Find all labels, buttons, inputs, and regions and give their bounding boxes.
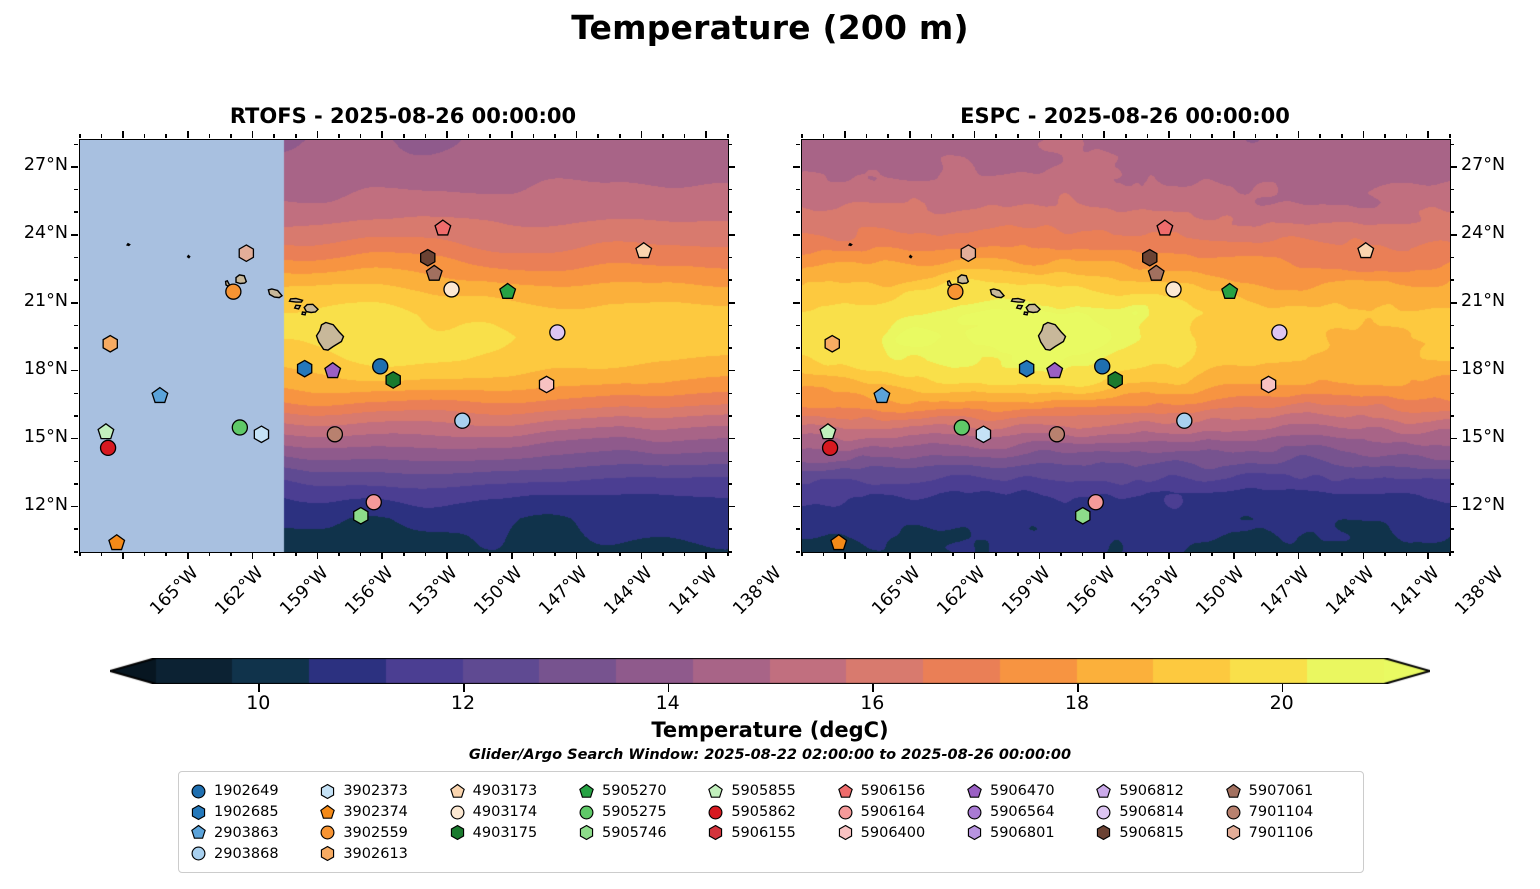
legend-item-4903175[interactable]: 4903175 [448,823,577,844]
observation-marker-5905862[interactable] [101,440,116,455]
colorbar-gradient [110,658,1430,684]
overlay-rtofs [80,140,728,552]
colorbar-tick-label: 10 [246,692,270,714]
lon-tick-label: 147°W [535,563,591,619]
legend-item-5906156[interactable]: 5906156 [836,781,965,802]
lon-tick [1233,552,1235,559]
legend-item-3902613[interactable]: 3902613 [318,843,447,864]
lon-tick-top [597,134,599,138]
lat-tick-right [1450,506,1457,508]
lon-tick-top [974,131,976,138]
lon-tick [1211,552,1213,556]
lon-tick-top [705,131,707,138]
lon-tick [230,552,232,556]
lon-tick-top [144,134,146,138]
lat-tick-right [728,551,732,553]
lon-tick-top [425,134,427,138]
lat-tick-label: 24°N [1461,223,1505,243]
lat-tick-left [71,370,78,372]
colorbar-tick [1077,684,1079,692]
landmass-oahu [268,289,282,298]
legend-item-3902559[interactable]: 3902559 [318,823,447,844]
legend-item-label: 5906156 [861,783,926,799]
legend-item-label: 5906400 [861,825,926,841]
lat-tick-left [796,211,800,213]
lon-tick-top [887,134,889,138]
legend-item-5905275[interactable]: 5905275 [577,802,706,823]
lon-tick-label: 156°W [341,563,397,619]
lat-tick-left [74,415,78,417]
lon-tick-top [209,134,211,138]
legend-item-label: 5905746 [602,825,667,841]
lat-tick-left [796,325,800,327]
lon-tick [360,552,362,556]
observation-marker-5906164[interactable] [1088,495,1103,510]
lon-tick-top [187,131,189,138]
lat-tick-left [74,257,78,259]
lat-tick-label: 21°N [0,291,68,311]
observation-marker-5906400[interactable] [539,376,553,392]
landmass-necker [849,244,852,246]
legend-item-3902374[interactable]: 3902374 [318,802,447,823]
lon-tick [844,552,846,559]
lon-tick [533,552,535,556]
lon-tick-top [252,131,254,138]
lat-tick-left [74,528,78,530]
legend-item-5906164[interactable]: 5906164 [836,802,965,823]
legend-item-4903173[interactable]: 4903173 [448,781,577,802]
legend-item-label: 5906812 [1119,783,1184,799]
legend-marker-circle-icon [1224,803,1243,822]
landmass-maui [304,304,318,312]
lat-tick-right [728,166,735,168]
observation-marker-4903173[interactable] [636,243,652,258]
lon-tick-top [554,134,556,138]
panel-title-espc: ESPC - 2025-08-26 00:00:00 [801,104,1449,128]
legend-item-1902649[interactable]: 1902649 [189,781,318,802]
observation-marker-1902649[interactable] [1095,359,1110,374]
landmass-kauai [236,275,246,284]
lat-tick-label: 12°N [0,495,68,515]
lon-tick [1363,552,1365,559]
lat-tick-right [728,483,732,485]
observation-marker-5906815[interactable] [1143,250,1157,266]
legend-marker-pentagon-icon [706,782,725,801]
lat-tick-right [728,438,735,440]
lon-tick-label: 165°W [147,563,203,619]
lon-tick-top [1060,134,1062,138]
lon-tick-top [641,131,643,138]
observation-marker-3902373[interactable] [254,426,268,442]
legend-item-label: 5906801 [990,825,1055,841]
lon-tick-label: 159°W [998,563,1054,619]
landmass-oahu [990,289,1004,298]
observation-marker-5905270[interactable] [500,283,516,298]
lon-tick [1190,552,1192,556]
lat-tick-left [796,144,800,146]
lon-tick [381,552,383,559]
lon-tick-top [79,134,81,138]
observation-marker-4903174[interactable] [444,282,459,297]
lon-tick-label: 153°W [406,563,462,619]
lon-tick-label: 147°W [1257,563,1313,619]
legend-item-2903863[interactable]: 2903863 [189,823,318,844]
legend-marker-hexagon-icon [836,823,855,842]
lon-tick [1449,552,1451,556]
landmass-kaho [1024,312,1028,315]
legend-item-label: 5906564 [990,804,1055,820]
lon-tick [727,552,729,556]
lon-tick [1082,552,1084,556]
lat-tick-left [71,506,78,508]
lat-tick-label: 27°N [0,155,68,175]
legend-marker-hexagon-icon [318,844,337,863]
lat-tick-left [74,483,78,485]
lat-tick-left [796,461,800,463]
observation-marker-5905275[interactable] [232,420,247,435]
lon-tick-top [684,134,686,138]
lon-tick [801,552,803,556]
lat-tick-label: 24°N [0,223,68,243]
observation-marker-5907061[interactable] [1148,265,1164,280]
lat-tick-right [728,325,732,327]
lon-tick-top [1039,131,1041,138]
legend-item-label: 7901104 [1249,804,1314,820]
lat-tick-left [796,347,800,349]
observation-marker-1902649[interactable] [373,359,388,374]
lat-tick-right [1450,347,1454,349]
observation-marker-4903175[interactable] [1108,372,1122,388]
legend-item-7901104[interactable]: 7901104 [1224,802,1353,823]
observation-marker-5905270[interactable] [1222,283,1238,298]
observation-marker-3902613[interactable] [825,336,839,352]
colorbar-tick [1282,684,1284,692]
observation-marker-3902374[interactable] [109,535,125,550]
lon-tick-label: 156°W [1063,563,1119,619]
lon-tick [974,552,976,559]
lat-tick-label: 15°N [0,427,68,447]
legend-item-label: 4903174 [473,804,538,820]
observation-marker-2903863[interactable] [152,388,168,403]
lat-tick-right [728,257,732,259]
legend-item-5906470[interactable]: 5906470 [965,781,1094,802]
legend-item-label: 3902559 [343,825,408,841]
legend-marker-hexagon-icon [1094,823,1113,842]
observation-marker-7901106[interactable] [961,245,975,261]
lon-tick-top [1363,131,1365,138]
colorbar-tick [258,684,260,692]
observation-marker-5905855[interactable] [820,424,836,439]
lon-tick [1298,552,1300,559]
lat-tick-left [74,461,78,463]
legend-item-5906801[interactable]: 5906801 [965,823,1094,844]
lon-tick-top [1341,134,1343,138]
landmass-big [317,323,344,351]
legend-item-label: 7901106 [1249,825,1314,841]
lat-tick-right [1450,415,1454,417]
landmass-lanai [1017,305,1023,309]
lat-tick-right [728,279,732,281]
lon-tick [1017,552,1019,556]
legend-item-4903174[interactable]: 4903174 [448,802,577,823]
observation-marker-3902559[interactable] [948,284,963,299]
lon-tick-top [952,134,954,138]
lat-tick-left [796,257,800,259]
observation-marker-5906156[interactable] [1157,220,1173,235]
legend-item-label: 3902374 [343,804,408,820]
legend-marker-hexagon-icon [965,823,984,842]
legend-item-label: 5905270 [602,783,667,799]
lat-tick-right [728,347,732,349]
observation-marker-5905746[interactable] [354,508,368,524]
lon-tick-top [995,134,997,138]
observation-marker-3902373[interactable] [976,426,990,442]
lat-tick-right [1450,189,1454,191]
lon-tick [641,552,643,559]
lon-tick [165,552,167,556]
lat-tick-left [793,166,800,168]
lon-tick [1319,552,1321,556]
lon-tick [1406,552,1408,556]
map-panel-espc[interactable] [801,139,1451,553]
lon-tick-top [1168,131,1170,138]
lon-tick [425,552,427,556]
observation-marker-1902685[interactable] [1020,360,1034,376]
observation-marker-5905746[interactable] [1076,508,1090,524]
legend-item-5906155[interactable]: 5906155 [706,823,835,844]
lon-tick-top [489,134,491,138]
lat-tick-left [74,347,78,349]
lon-tick-top [101,134,103,138]
lon-tick-top [360,134,362,138]
lon-tick-top [381,131,383,138]
legend-marker-circle-icon [706,803,725,822]
observation-marker-2903863[interactable] [874,388,890,403]
landmass-kauai [958,275,968,284]
lat-tick-right [728,144,732,146]
lon-tick-top [801,134,803,138]
lat-tick-left [793,302,800,304]
lat-tick-left [71,438,78,440]
observation-marker-5905275[interactable] [954,420,969,435]
legend-item-5906812[interactable]: 5906812 [1094,781,1223,802]
lon-tick-top [909,131,911,138]
lat-tick-right [728,528,732,530]
lon-tick-top [468,134,470,138]
lon-tick-top [317,131,319,138]
lon-tick-top [931,134,933,138]
legend-marker-pentagon-icon [448,782,467,801]
observation-marker-5906815[interactable] [421,250,435,266]
colorbar-tick-label: 20 [1270,692,1294,714]
map-panel-rtofs[interactable] [79,139,729,553]
lat-tick-right [1450,166,1457,168]
observation-marker-5906164[interactable] [366,495,381,510]
search-window-caption: Glider/Argo Search Window: 2025-08-22 02… [0,747,1540,763]
lon-tick-top [230,134,232,138]
observation-marker-5906470[interactable] [1047,363,1063,378]
observation-marker-5906156[interactable] [435,220,451,235]
lon-tick-label: 150°W [471,563,527,619]
lon-tick [684,552,686,556]
lon-tick-top [823,134,825,138]
lon-tick [662,552,664,556]
lon-tick-top [165,134,167,138]
observation-marker-5906400[interactable] [1261,376,1275,392]
lon-tick [1255,552,1257,556]
lon-tick-top [1319,134,1321,138]
lon-tick-top [1017,134,1019,138]
legend-item-label: 2903863 [214,825,279,841]
lon-tick [1125,552,1127,556]
landmass-big [1039,323,1066,351]
legend-item-5906814[interactable]: 5906814 [1094,802,1223,823]
lon-tick-label: 141°W [665,563,721,619]
lat-tick-label: 27°N [1461,155,1505,175]
lon-tick [705,552,707,559]
lat-tick-right [1450,551,1454,553]
lat-tick-right [728,370,735,372]
lat-tick-label: 18°N [1461,359,1505,379]
lat-tick-left [796,483,800,485]
landmass-necker [127,244,130,246]
lat-tick-left [796,189,800,191]
legend-item-label: 5906470 [990,783,1055,799]
observation-marker-5907061[interactable] [426,265,442,280]
observation-marker-5906814[interactable] [1272,325,1287,340]
observation-marker-4903174[interactable] [1166,282,1181,297]
lon-tick-top [1233,131,1235,138]
lat-tick-left [793,370,800,372]
legend-item-5905270[interactable]: 5905270 [577,781,706,802]
observation-marker-7901106[interactable] [239,245,253,261]
legend-item-5905746[interactable]: 5905746 [577,823,706,844]
observation-marker-4903175[interactable] [386,372,400,388]
lon-tick-top [403,134,405,138]
observation-marker-2903868[interactable] [455,413,470,428]
lon-tick-top [446,131,448,138]
lat-tick-left [796,415,800,417]
lat-tick-label: 21°N [1461,291,1505,311]
legend-item-label: 3902613 [343,846,408,862]
lon-tick-top [273,134,275,138]
legend-item-5906400[interactable]: 5906400 [836,823,965,844]
observation-marker-3902613[interactable] [103,336,117,352]
lat-tick-right [1450,528,1454,530]
lon-tick-label: 144°W [600,563,656,619]
observation-marker-7901104[interactable] [327,427,342,442]
observation-marker-1902685[interactable] [298,360,312,376]
lon-tick-top [1190,134,1192,138]
observation-marker-4903173[interactable] [1358,243,1374,258]
lat-tick-left [74,144,78,146]
lon-tick [554,552,556,556]
observation-marker-2903868[interactable] [1177,413,1192,428]
lat-tick-label: 18°N [0,359,68,379]
observation-marker-5905855[interactable] [98,424,114,439]
lat-tick-left [74,279,78,281]
legend-item-5907061[interactable]: 5907061 [1224,781,1353,802]
lat-tick-right [1450,257,1454,259]
lat-tick-left [793,506,800,508]
lat-tick-left [74,211,78,213]
observation-marker-5906814[interactable] [550,325,565,340]
lon-tick-top [1082,134,1084,138]
lat-tick-left [71,166,78,168]
observation-marker-5905862[interactable] [823,440,838,455]
legend-item-5905862[interactable]: 5905862 [706,802,835,823]
lat-tick-right [1450,144,1454,146]
lat-tick-right [1450,279,1454,281]
legend-item-label: 5907061 [1249,783,1314,799]
lon-tick-top [1449,134,1451,138]
lon-tick [273,552,275,556]
colorbar-tick [668,684,670,692]
legend-item-2903868[interactable]: 2903868 [189,843,318,864]
legend-item-label: 2903868 [214,846,279,862]
platform-legend: 1902649190268529038632903868390237339023… [178,771,1364,873]
lon-tick [1147,552,1149,556]
colorbar-tick-label: 14 [656,692,680,714]
lon-tick [866,552,868,556]
panel-title-rtofs: RTOFS - 2025-08-26 00:00:00 [79,104,727,128]
lon-tick [489,552,491,556]
legend-item-3902373[interactable]: 3902373 [318,781,447,802]
lon-tick-top [122,131,124,138]
lat-tick-right [728,415,732,417]
lat-tick-right [728,506,735,508]
legend-item-5906815[interactable]: 5906815 [1094,823,1223,844]
lon-tick-top [1406,134,1408,138]
lon-tick [887,552,889,556]
colorbar-tick-label: 16 [860,692,884,714]
lon-tick [1427,552,1429,559]
landmass-nihoa [910,256,912,258]
lat-tick-right [1450,438,1457,440]
legend-marker-pentagon-icon [1094,782,1113,801]
legend-marker-hexagon-icon [577,823,596,842]
legend-marker-pentagon-icon [189,823,208,842]
lat-tick-left [793,438,800,440]
legend-item-1902685[interactable]: 1902685 [189,802,318,823]
observation-marker-3902374[interactable] [831,535,847,550]
lon-tick-top [844,131,846,138]
legend-marker-circle-icon [448,803,467,822]
landmass-molo [1012,299,1025,303]
legend-item-5905855[interactable]: 5905855 [706,781,835,802]
lon-tick [1168,552,1170,559]
legend-item-5906564[interactable]: 5906564 [965,802,1094,823]
lon-tick-top [1147,134,1149,138]
observation-marker-7901104[interactable] [1049,427,1064,442]
legend-marker-hexagon-icon [189,803,208,822]
lat-tick-label: 12°N [1461,495,1505,515]
lon-tick [931,552,933,556]
observation-marker-5906470[interactable] [325,363,341,378]
legend-item-label: 5906814 [1119,804,1184,820]
lon-tick-label: 153°W [1128,563,1184,619]
lat-tick-right [728,302,735,304]
lat-tick-left [74,551,78,553]
observation-marker-3902559[interactable] [226,284,241,299]
lon-tick-label: 162°W [933,563,989,619]
lon-tick [995,552,997,556]
lon-tick [1384,552,1386,556]
legend-item-7901106[interactable]: 7901106 [1224,823,1353,844]
legend-marker-circle-icon [577,803,596,822]
lon-tick-top [1125,134,1127,138]
legend-marker-pentagon-icon [577,782,596,801]
